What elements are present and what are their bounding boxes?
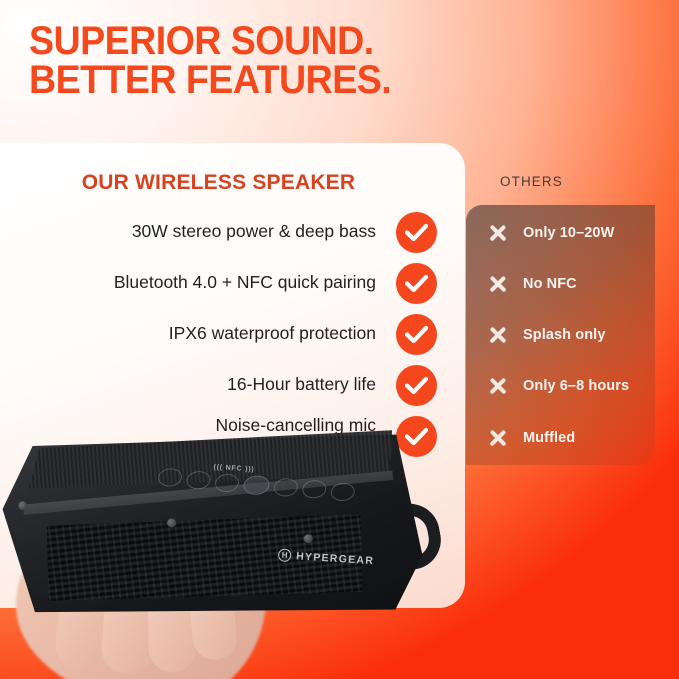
others-row-label: Only 6–8 hours bbox=[523, 378, 629, 394]
check-icon bbox=[396, 212, 437, 253]
others-row-label: Splash only bbox=[523, 327, 605, 343]
feature-row: 30W stereo power & deep bass bbox=[0, 210, 437, 254]
hypergear-mark-icon: H bbox=[278, 548, 292, 562]
others-row: Only 10–20W bbox=[488, 218, 614, 248]
feature-label: IPX6 waterproof protection bbox=[169, 323, 376, 344]
bluetooth-speaker: ((( NFC ))) H HYPERGEAR bbox=[0, 399, 429, 656]
others-row: Muffled bbox=[488, 423, 575, 453]
feature-label: 30W stereo power & deep bass bbox=[132, 221, 376, 242]
our-features-title: OUR WIRELESS SPEAKER bbox=[0, 171, 437, 195]
feature-label: Bluetooth 4.0 + NFC quick pairing bbox=[114, 272, 376, 293]
feature-label: 16-Hour battery life bbox=[227, 374, 376, 395]
others-row-label: Muffled bbox=[523, 430, 575, 446]
x-icon bbox=[488, 275, 507, 294]
others-row: Splash only bbox=[488, 320, 605, 350]
infographic-poster: OTHERS Only 10–20W No NFC Splash only On… bbox=[0, 0, 679, 679]
feature-row: IPX6 waterproof protection bbox=[0, 312, 437, 356]
x-icon bbox=[488, 377, 507, 396]
page-title: SUPERIOR SOUND. BETTER FEATURES. bbox=[29, 22, 555, 100]
check-icon bbox=[396, 314, 437, 355]
feature-row: Bluetooth 4.0 + NFC quick pairing bbox=[0, 261, 437, 305]
others-row-label: Only 10–20W bbox=[523, 225, 614, 241]
others-column: OTHERS Only 10–20W No NFC Splash only On… bbox=[466, 146, 679, 476]
check-icon bbox=[396, 263, 437, 304]
others-row-label: No NFC bbox=[523, 276, 577, 292]
others-row: Only 6–8 hours bbox=[488, 371, 629, 401]
x-icon bbox=[488, 429, 507, 448]
product-photo: ((( NFC ))) H HYPERGEAR bbox=[0, 400, 470, 679]
x-icon bbox=[488, 224, 507, 243]
others-row: No NFC bbox=[488, 269, 577, 299]
x-icon bbox=[488, 326, 507, 345]
others-title: OTHERS bbox=[500, 174, 563, 189]
